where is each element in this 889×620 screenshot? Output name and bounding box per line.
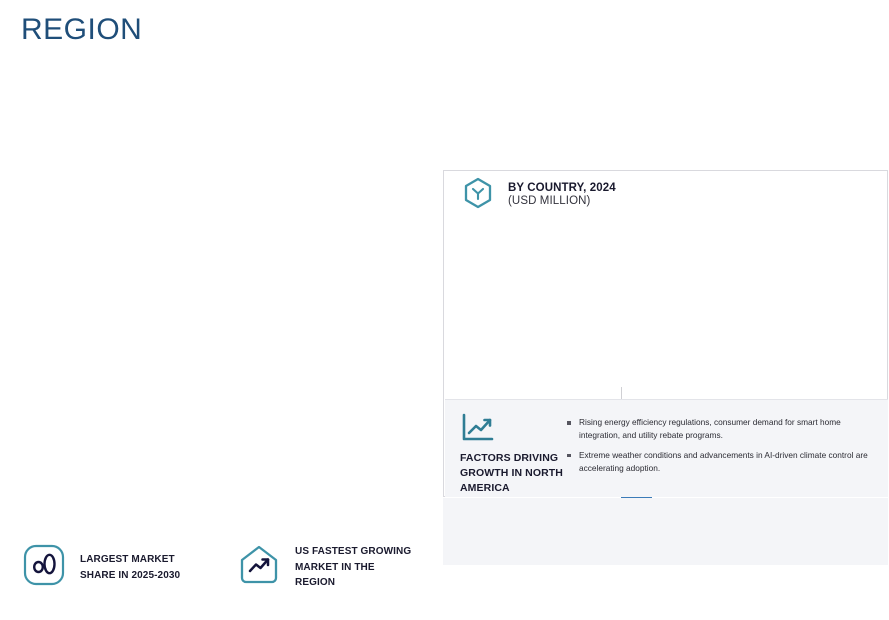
page-title: REGION [21, 13, 142, 46]
card-title: BY COUNTRY, 2024 [508, 182, 616, 195]
card-subtitle: (USD MILLION) [508, 195, 616, 208]
callout-label: US FASTEST GROWING MARKET IN THE REGION [295, 544, 411, 591]
callout-largest-market-share: LARGEST MARKET SHARE IN 2025-2030 [22, 543, 180, 592]
factor-bullet: Rising energy efficiency regulations, co… [567, 416, 879, 442]
trending-up-pentagon-icon [237, 543, 281, 592]
callout-label: LARGEST MARKET SHARE IN 2025-2030 [80, 552, 180, 583]
by-country-card: BY COUNTRY, 2024 (USD MILLION) US Canada… [443, 170, 888, 497]
hexagon-y-icon [461, 176, 495, 215]
card-header: BY COUNTRY, 2024 (USD MILLION) [444, 171, 887, 219]
lower-panel [443, 498, 888, 565]
donut-chart-icon [22, 543, 66, 592]
line-chart-up-icon [460, 412, 578, 444]
factors-driving-growth-section: FACTORS DRIVING GROWTH IN NORTH AMERICA … [445, 399, 888, 497]
bar-chart: US Canada Mexico - 500.00 1,000.00 1,500… [444, 219, 889, 399]
factors-bullet-list: Rising energy efficiency regulations, co… [567, 416, 879, 481]
factor-bullet: Extreme weather conditions and advanceme… [567, 449, 879, 475]
card-header-text: BY COUNTRY, 2024 (USD MILLION) [508, 182, 616, 208]
factors-heading-block: FACTORS DRIVING GROWTH IN NORTH AMERICA [460, 412, 578, 497]
callout-us-fastest-growing: US FASTEST GROWING MARKET IN THE REGION [237, 543, 411, 592]
factors-title: FACTORS DRIVING GROWTH IN NORTH AMERICA [460, 451, 578, 497]
